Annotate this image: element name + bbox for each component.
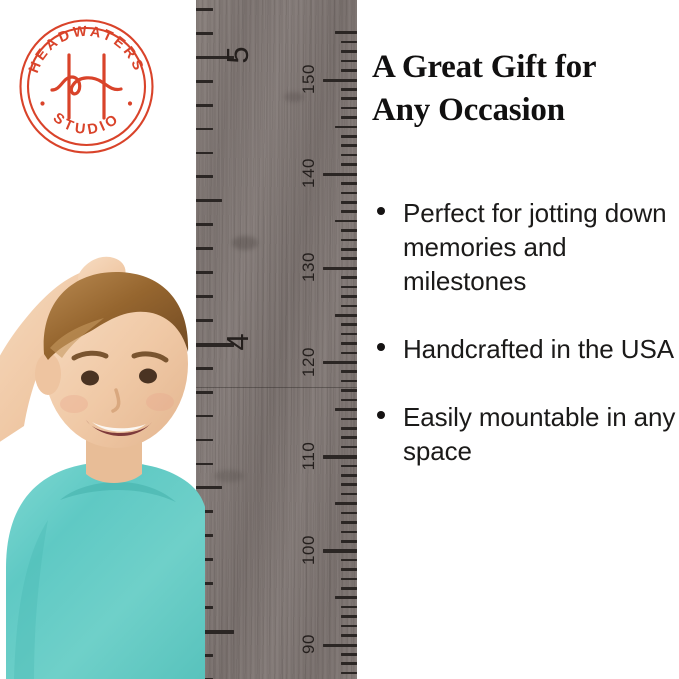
- cm-minor-tick: [341, 201, 357, 204]
- cm-minor-tick: [341, 248, 357, 251]
- cm-label: 140: [299, 151, 319, 195]
- eye-right: [139, 369, 157, 384]
- svg-text:HEADWATERS: HEADWATERS: [26, 24, 147, 76]
- eye-left: [81, 371, 99, 386]
- cm-minor-tick: [341, 399, 357, 402]
- logo-arc-bottom-text: STUDIO: [50, 110, 124, 138]
- cheek-right: [146, 393, 174, 411]
- cm-minor-tick: [341, 568, 357, 571]
- cm-minor-tick: [341, 370, 357, 373]
- cm-minor-tick: [335, 408, 357, 411]
- cm-minor-tick: [341, 578, 357, 581]
- cm-minor-tick: [341, 653, 357, 656]
- cm-minor-tick: [341, 192, 357, 195]
- cm-minor-tick: [335, 126, 357, 129]
- cm-minor-tick: [341, 163, 357, 166]
- bullet-dot-icon: [377, 343, 385, 351]
- cm-minor-tick: [341, 436, 357, 439]
- cm-minor-tick: [341, 634, 357, 637]
- cm-minor-tick: [341, 50, 357, 53]
- child-photo: [0, 168, 205, 679]
- cm-minor-tick: [341, 418, 357, 421]
- inch-tick: [196, 32, 213, 35]
- list-item: Handcrafted in the USA: [372, 332, 679, 366]
- foot-label: 5: [220, 35, 256, 75]
- cm-minor-tick: [341, 540, 357, 543]
- cm-minor-tick: [335, 502, 357, 505]
- cm-label: 100: [299, 528, 319, 572]
- cm-minor-tick: [341, 323, 357, 326]
- bullet-dot-icon: [377, 207, 385, 215]
- cm-major-tick: [323, 173, 357, 176]
- cm-minor-tick: [341, 116, 357, 119]
- cm-minor-tick: [341, 587, 357, 590]
- inch-tick: [196, 152, 213, 155]
- wood-knot: [232, 236, 258, 250]
- cm-minor-tick: [341, 625, 357, 628]
- logo-arc-top-text: HEADWATERS: [26, 24, 147, 76]
- cm-minor-tick: [341, 210, 357, 213]
- bullet-dot-icon: [377, 411, 385, 419]
- cm-minor-tick: [335, 31, 357, 34]
- list-item-label: Perfect for jotting down memories and mi…: [403, 196, 679, 298]
- growth-chart-ruler: 15014013012011010090 54: [196, 0, 357, 679]
- feature-list: Perfect for jotting down memories and mi…: [372, 196, 679, 502]
- cm-minor-tick: [341, 465, 357, 468]
- board-seam-line: [196, 387, 357, 388]
- cm-major-tick: [323, 549, 357, 552]
- cm-minor-tick: [341, 135, 357, 138]
- headwaters-studio-logo: HEADWATERS STUDIO: [17, 17, 156, 156]
- list-item: Easily mountable in any space: [372, 400, 679, 468]
- cm-minor-tick: [341, 531, 357, 534]
- cm-minor-tick: [341, 60, 357, 63]
- cm-minor-tick: [341, 97, 357, 100]
- foot-label: 4: [220, 322, 256, 362]
- cm-minor-tick: [335, 314, 357, 317]
- cm-minor-tick: [341, 615, 357, 618]
- cm-major-tick: [323, 267, 357, 270]
- list-item-label: Easily mountable in any space: [403, 400, 679, 468]
- cm-minor-tick: [341, 144, 357, 147]
- cm-label: 90: [299, 622, 319, 666]
- cm-minor-tick: [335, 220, 357, 223]
- cm-label: 150: [299, 57, 319, 101]
- cm-major-tick: [323, 455, 357, 458]
- svg-text:STUDIO: STUDIO: [50, 110, 124, 138]
- list-item: Perfect for jotting down memories and mi…: [372, 196, 679, 298]
- cm-minor-tick: [341, 389, 357, 392]
- cm-minor-tick: [341, 483, 357, 486]
- cm-minor-tick: [341, 559, 357, 562]
- copy-panel: A Great Gift for Any Occasion Perfect fo…: [368, 0, 679, 679]
- list-item-label: Handcrafted in the USA: [403, 332, 679, 366]
- cm-minor-tick: [341, 672, 357, 675]
- cm-minor-tick: [341, 446, 357, 449]
- cm-minor-tick: [341, 229, 357, 232]
- inch-tick: [196, 104, 213, 107]
- cheek-left: [60, 395, 88, 413]
- cm-minor-tick: [341, 333, 357, 336]
- cm-label: 130: [299, 245, 319, 289]
- cm-minor-tick: [335, 596, 357, 599]
- cm-minor-tick: [341, 352, 357, 355]
- cm-label: 120: [299, 340, 319, 384]
- cm-minor-tick: [341, 182, 357, 185]
- cm-minor-tick: [341, 512, 357, 515]
- cm-minor-tick: [341, 107, 357, 110]
- cm-major-tick: [323, 79, 357, 82]
- product-marketing-image: HEADWATERS STUDIO 15014013012011010090 5…: [0, 0, 679, 679]
- cm-minor-tick: [341, 427, 357, 430]
- cm-major-tick: [323, 644, 357, 647]
- wood-knot: [214, 470, 244, 482]
- cm-minor-tick: [341, 88, 357, 91]
- cm-label: 110: [299, 434, 319, 478]
- cm-minor-tick: [341, 342, 357, 345]
- cm-minor-tick: [341, 276, 357, 279]
- page-title: A Great Gift for Any Occasion: [372, 46, 677, 132]
- cm-minor-tick: [341, 286, 357, 289]
- headline-line-2: Any Occasion: [372, 89, 677, 132]
- cm-minor-tick: [341, 69, 357, 72]
- inch-tick: [196, 8, 213, 11]
- cm-minor-tick: [341, 257, 357, 260]
- cm-major-tick: [323, 361, 357, 364]
- cm-minor-tick: [341, 662, 357, 665]
- cm-minor-tick: [341, 305, 357, 308]
- cm-minor-tick: [341, 239, 357, 242]
- cm-minor-tick: [341, 521, 357, 524]
- inch-tick: [196, 80, 213, 83]
- cm-minor-tick: [341, 295, 357, 298]
- headline-line-1: A Great Gift for: [372, 46, 677, 89]
- cm-minor-tick: [341, 474, 357, 477]
